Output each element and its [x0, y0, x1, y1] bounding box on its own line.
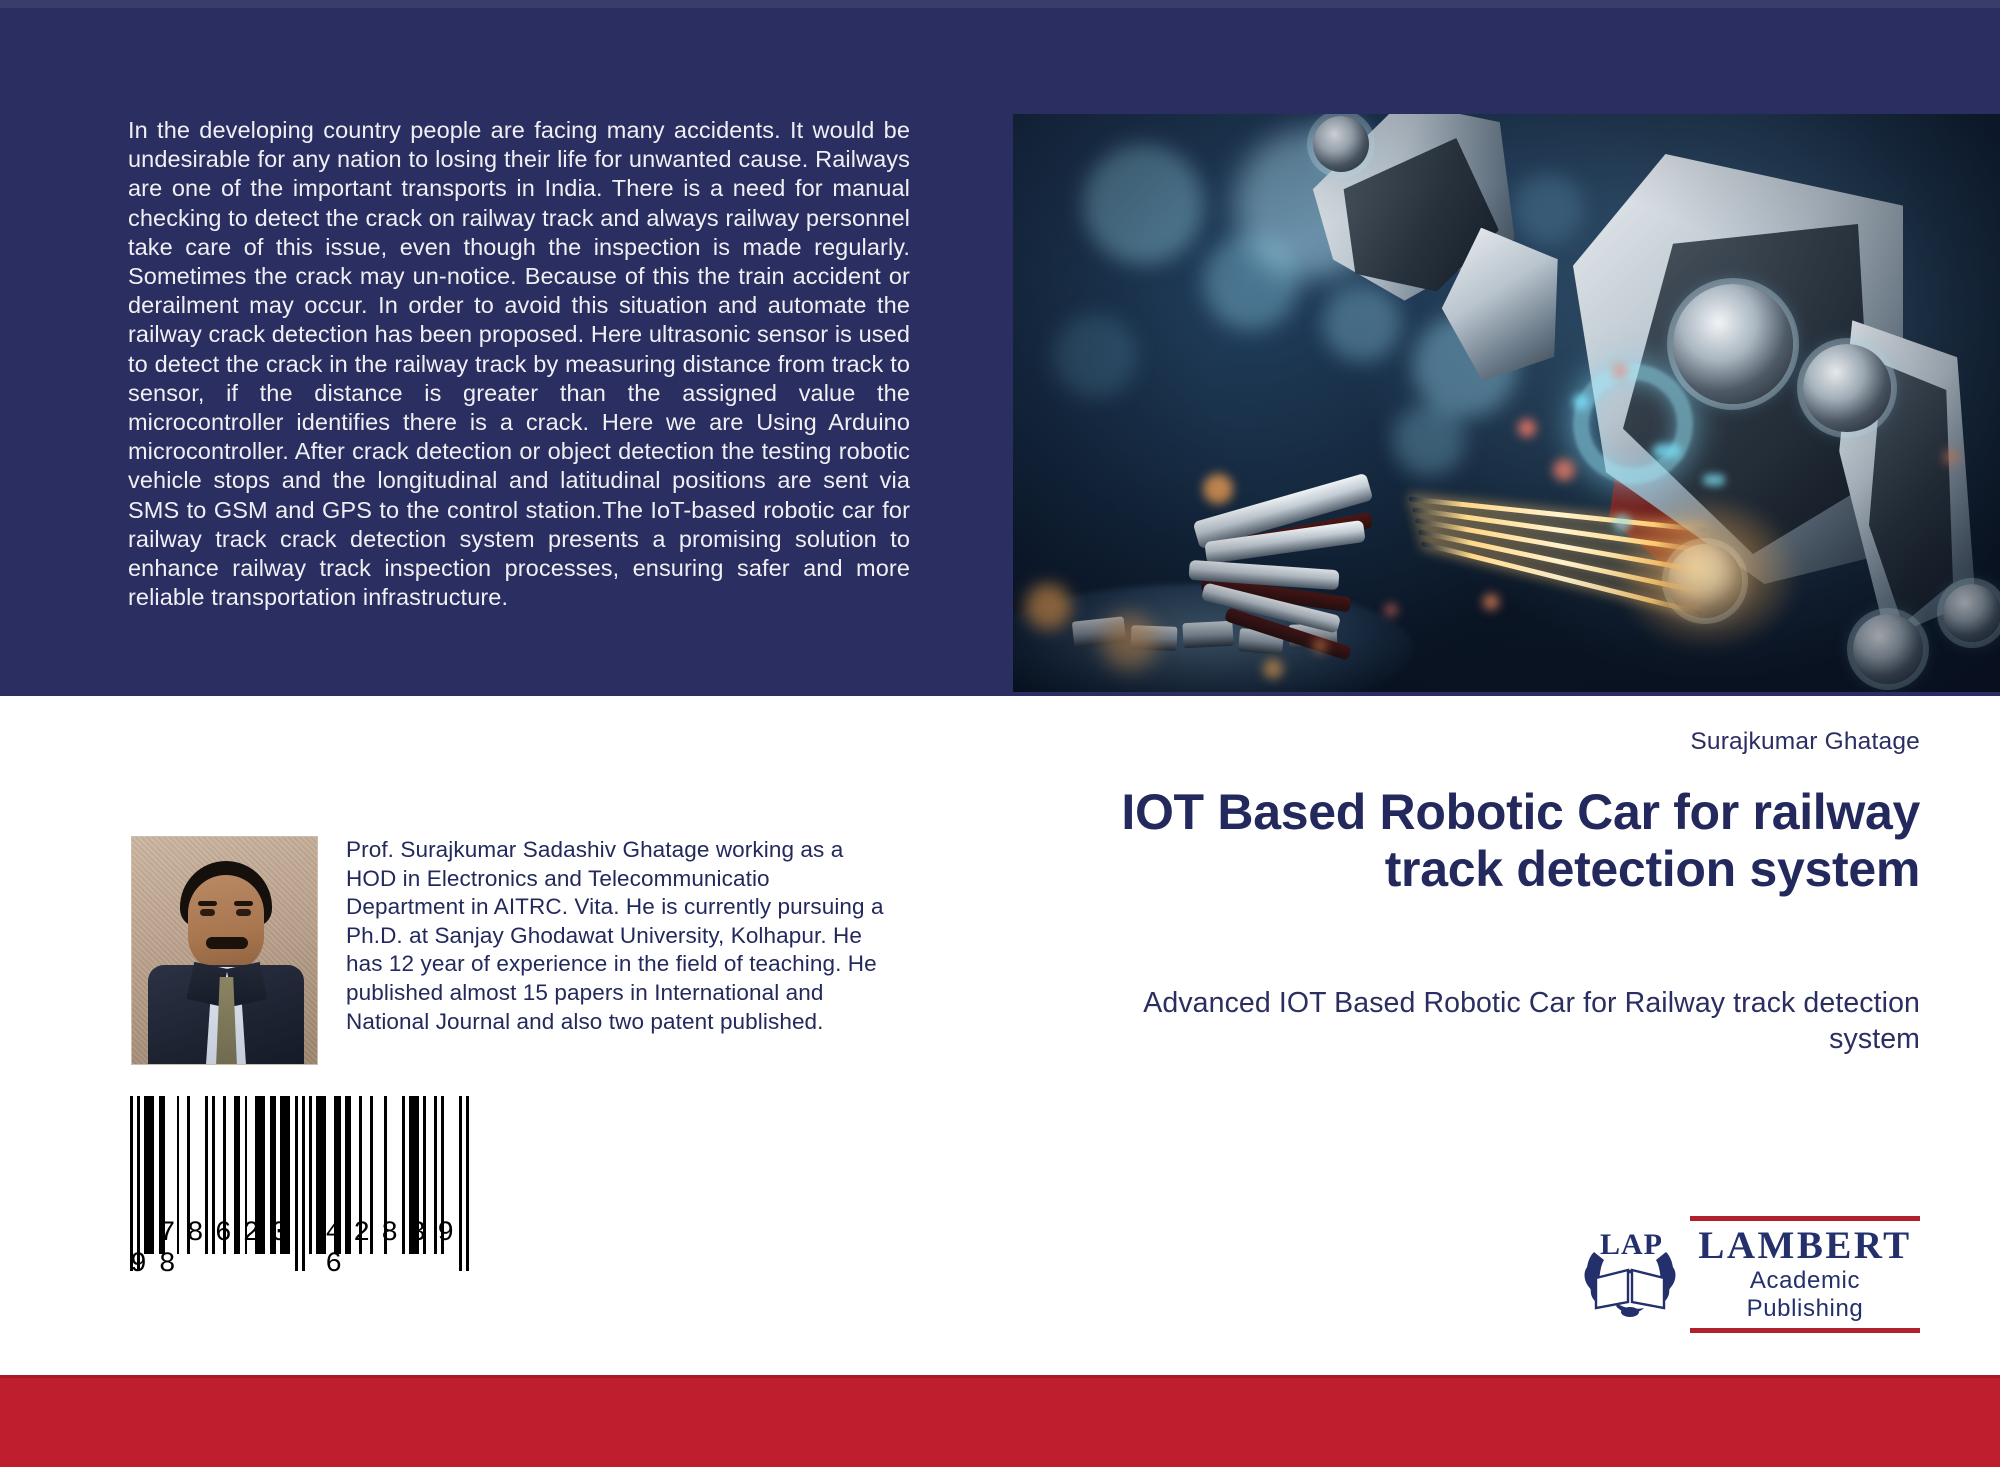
robot-joint	[1943, 584, 2000, 642]
isbn-digit: 2	[348, 1218, 376, 1249]
lap-acronym: LAP	[1600, 1228, 1663, 1262]
portrait-eye-left	[200, 909, 215, 916]
portrait-eyebrow-left	[198, 901, 217, 906]
robot-glow-ring	[1573, 364, 1693, 484]
back-cover-blurb: In the developing country people are fac…	[128, 116, 910, 612]
warm-bokeh-spot	[1313, 639, 1327, 653]
warm-bokeh-spot	[1101, 614, 1157, 670]
isbn-digit: 8	[376, 1218, 404, 1249]
publisher-name: LAMBERT	[1690, 1225, 1920, 1267]
isbn-left-group: 786208	[153, 1218, 303, 1280]
isbn-digits: 9 786208 428396	[130, 1248, 470, 1280]
warm-bokeh-spot	[1025, 584, 1071, 630]
isbn-digit: 8	[153, 1249, 181, 1280]
lambert-wordmark: LAMBERT Academic Publishing	[1690, 1216, 1920, 1333]
warm-bokeh-spot	[1943, 449, 1959, 465]
logo-rule-bottom	[1690, 1328, 1920, 1333]
robot-joint	[1313, 116, 1369, 172]
bokeh-light	[1083, 144, 1203, 264]
warm-bokeh-spot	[1385, 604, 1397, 616]
top-edge-hairline	[0, 0, 2000, 8]
front-cover-author-name: Surajkumar Ghatage	[1100, 728, 1920, 756]
lap-open-book-laurel-icon: LAP	[1578, 1226, 1682, 1322]
portrait-eyebrow-right	[234, 901, 253, 906]
bokeh-light	[1393, 404, 1465, 476]
portrait-eye-right	[236, 909, 251, 916]
isbn-barcode: 9 786208 428396	[130, 1096, 470, 1306]
warm-bokeh-spot	[1613, 364, 1627, 378]
robot-gripper-hand	[1183, 469, 1513, 679]
isbn-digit: 2	[237, 1218, 265, 1249]
book-cover-full-wrap: In the developing country people are fac…	[0, 0, 2000, 1467]
isbn-lead-digit: 9	[130, 1249, 153, 1280]
isbn-digit: 7	[153, 1218, 181, 1249]
publisher-tagline: Academic Publishing	[1690, 1267, 1920, 1323]
isbn-digit: 6	[209, 1218, 237, 1249]
warm-bokeh-spot	[1203, 474, 1233, 504]
barcode-bar	[137, 1096, 140, 1271]
filament-flare-glow	[1613, 494, 1803, 654]
cover-artwork	[1013, 114, 2000, 692]
bokeh-light	[1513, 174, 1583, 244]
isbn-digit: 4	[320, 1218, 348, 1249]
publisher-logo: LAP LAMBERT Academic Publishing	[1578, 1222, 1920, 1326]
logo-rule-top	[1690, 1216, 1920, 1221]
warm-bokeh-spot	[1483, 594, 1499, 610]
warm-bokeh-spot	[1518, 419, 1536, 437]
robot-joint	[1853, 614, 1923, 684]
cyan-accent-light	[1613, 514, 1631, 532]
isbn-digit: 3	[404, 1218, 432, 1249]
bottom-red-band	[0, 1375, 2000, 1467]
portrait-moustache	[206, 937, 248, 949]
book-title: IOT Based Robotic Car for railway track …	[1080, 784, 1920, 898]
bokeh-light	[1053, 314, 1137, 398]
barcode-bar	[130, 1096, 133, 1271]
cyan-accent-light	[1703, 474, 1725, 486]
isbn-digit: 9	[432, 1218, 460, 1249]
red-band-hairline	[0, 1375, 2000, 1378]
robot-joint	[1803, 344, 1891, 432]
isbn-digit: 6	[320, 1249, 348, 1280]
robot-joint	[1673, 284, 1793, 404]
book-subtitle: Advanced IOT Based Robotic Car for Railw…	[1080, 985, 1920, 1057]
bokeh-light	[1323, 284, 1401, 362]
isbn-digit: 8	[181, 1218, 209, 1249]
cyan-accent-light	[1573, 394, 1589, 410]
isbn-right-group: 428396	[320, 1218, 470, 1280]
warm-bokeh-spot	[1263, 659, 1283, 679]
barcode-bar	[309, 1096, 312, 1254]
portrait-face	[188, 875, 264, 971]
author-photo	[131, 836, 318, 1065]
cyan-accent-light	[1653, 444, 1681, 458]
isbn-digit: 0	[265, 1218, 293, 1249]
author-bio-text: Prof. Surajkumar Sadashiv Ghatage workin…	[346, 836, 892, 1036]
warm-bokeh-spot	[1553, 459, 1575, 481]
